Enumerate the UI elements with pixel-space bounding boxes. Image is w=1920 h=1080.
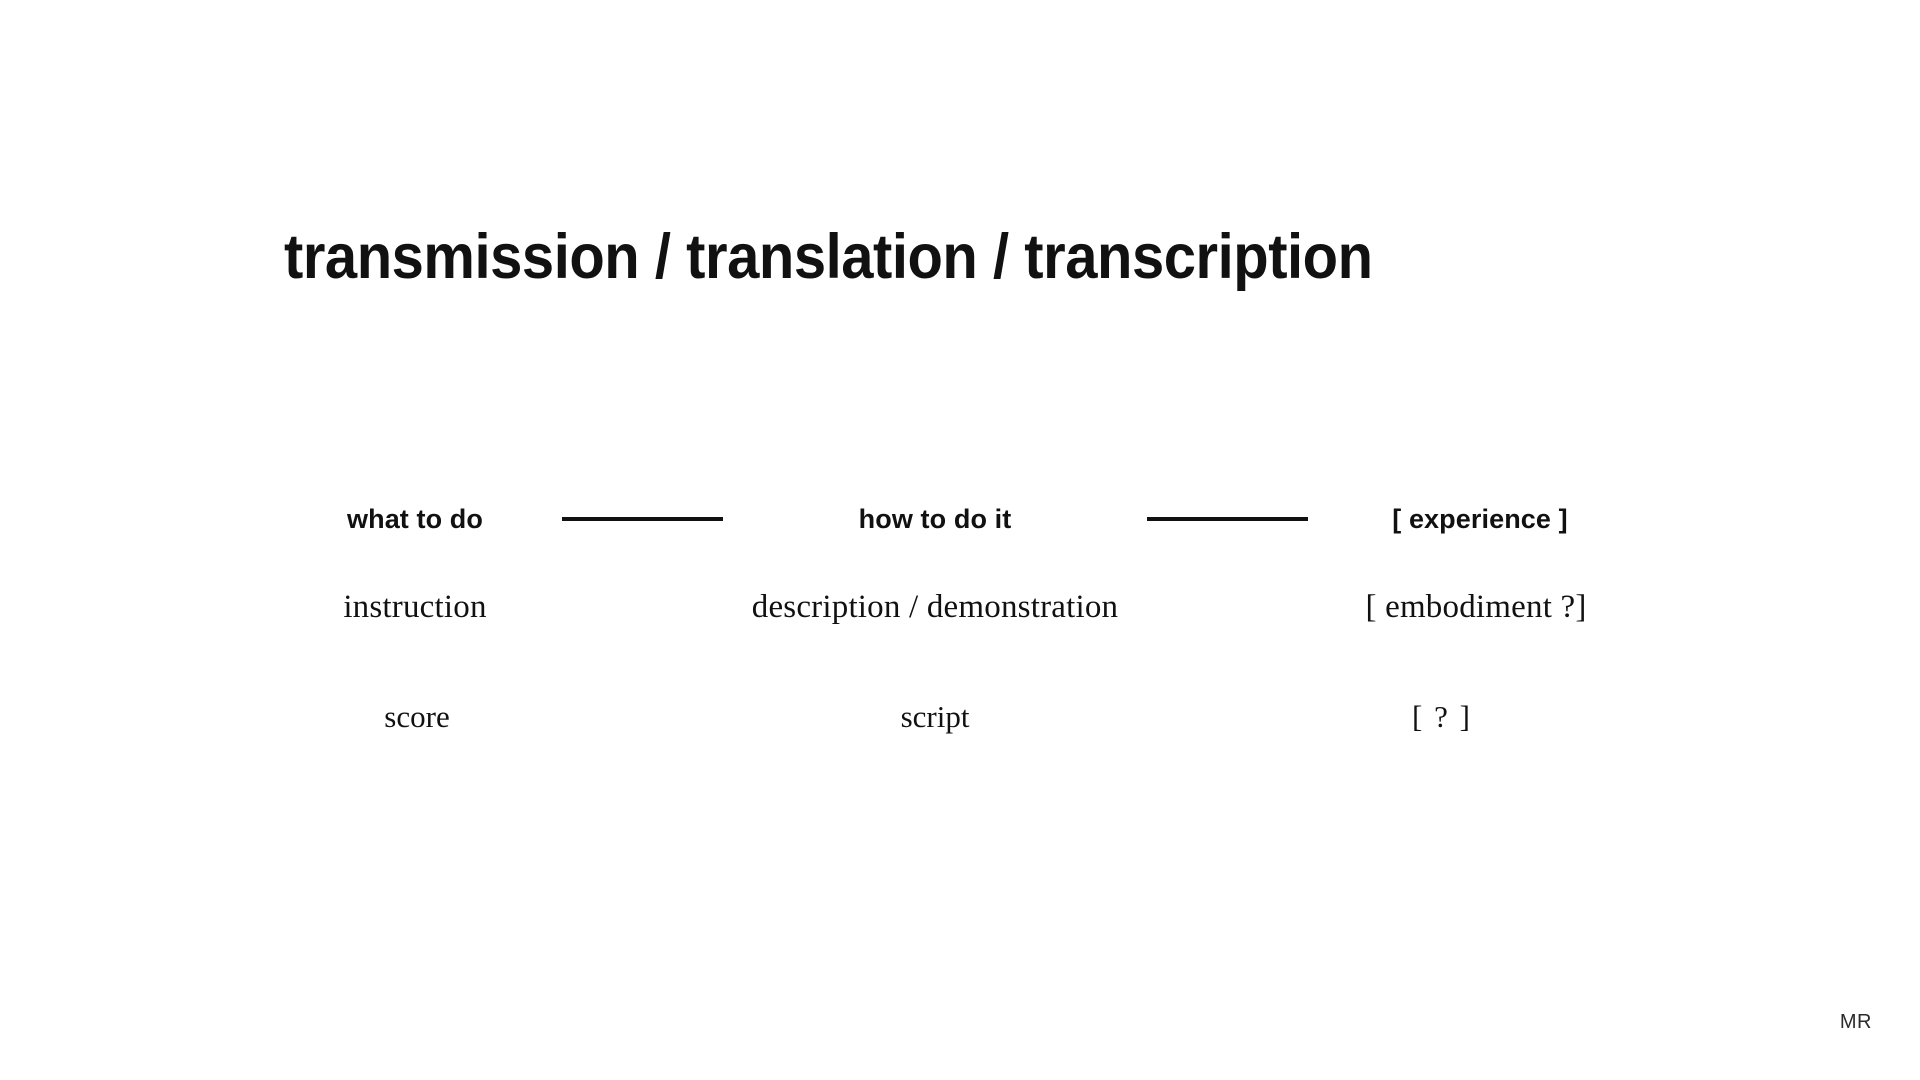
column-how-to-do-it-head: how to do it	[745, 504, 1125, 535]
diagram-row-headings: what to do how to do it [ experience ]	[290, 497, 1630, 541]
lower-label-question: [ ? ]	[1412, 699, 1472, 735]
connector-2-spacer-lower	[1147, 715, 1308, 719]
connector-2-spacer	[1147, 605, 1308, 609]
lower-label-score: score	[384, 699, 449, 735]
middle-label-embodiment: [ embodiment ?]	[1365, 589, 1586, 626]
connector-1-spacer	[562, 605, 723, 609]
head-label-experience: [ experience ]	[1392, 504, 1567, 535]
column-what-to-do-head: what to do	[290, 504, 540, 535]
middle-label-description-demonstration: description / demonstration	[752, 589, 1119, 626]
slide-canvas: transmission / translation / transcripti…	[0, 0, 1920, 1080]
column-what-to-do-middle: instruction	[290, 589, 540, 626]
column-experience-head: [ experience ]	[1330, 504, 1630, 535]
connector-1-line	[562, 517, 723, 521]
head-label-how-to-do-it: how to do it	[859, 504, 1012, 535]
head-label-what-to-do: what to do	[347, 504, 483, 535]
column-experience-lower: [ ? ]	[1292, 699, 1592, 735]
diagram-row-middle: instruction description / demonstration …	[290, 585, 1630, 629]
connector-1-spacer-lower	[562, 715, 723, 719]
page-title: transmission / translation / transcripti…	[284, 224, 1373, 290]
author-initials: MR	[1840, 1011, 1872, 1034]
lower-label-script: script	[901, 699, 970, 735]
column-how-to-do-it-middle: description / demonstration	[745, 589, 1125, 626]
column-experience-middle: [ embodiment ?]	[1326, 589, 1626, 626]
middle-label-instruction: instruction	[343, 589, 486, 626]
column-how-to-do-it-lower: script	[745, 699, 1125, 735]
column-what-to-do-lower: score	[292, 699, 542, 735]
connector-2-line	[1147, 517, 1308, 521]
diagram-row-lower: score script [ ? ]	[290, 695, 1630, 739]
